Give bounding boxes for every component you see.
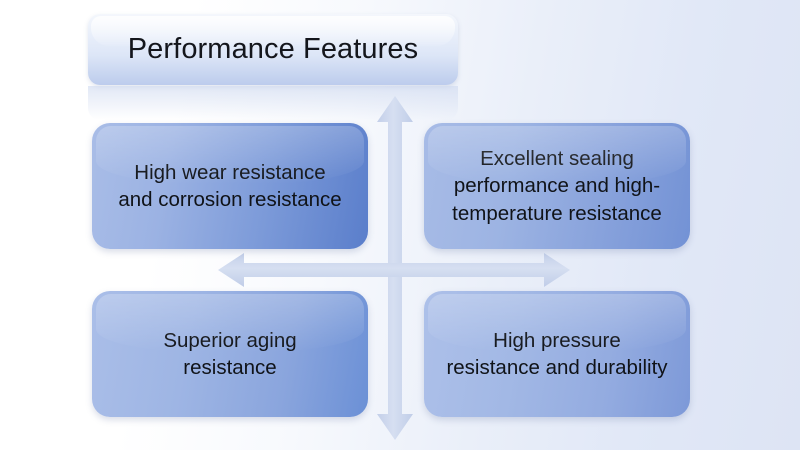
slide-canvas: Performance Features High wear resistan — [0, 0, 800, 450]
feature-box-bottom-left[interactable]: Superior aging resistance — [92, 291, 368, 417]
feature-line: Superior aging — [163, 329, 296, 352]
feature-line: temperature resistance — [452, 202, 662, 225]
vertical-double-arrow-icon — [367, 96, 423, 440]
horizontal-double-arrow-icon — [218, 248, 570, 292]
feature-line: resistance and durability — [446, 356, 667, 379]
feature-line: and corrosion resistance — [118, 188, 341, 211]
feature-box-top-right[interactable]: Excellent sealing performance and high- … — [424, 123, 690, 249]
feature-box-bottom-right-label: High pressure resistance and durability — [446, 327, 667, 382]
title-banner-reflection — [88, 86, 458, 120]
feature-line: High wear resistance — [134, 161, 325, 184]
feature-line: Excellent sealing — [480, 147, 634, 170]
feature-line: resistance — [183, 356, 276, 379]
feature-line: performance and high- — [454, 174, 660, 197]
feature-box-bottom-right[interactable]: High pressure resistance and durability — [424, 291, 690, 417]
feature-box-top-right-label: Excellent sealing performance and high- … — [452, 145, 662, 227]
page-title: Performance Features — [128, 33, 419, 66]
title-banner: Performance Features — [88, 14, 458, 85]
feature-box-top-left[interactable]: High wear resistance and corrosion resis… — [92, 123, 368, 249]
feature-line: High pressure — [493, 329, 621, 352]
feature-box-top-left-label: High wear resistance and corrosion resis… — [118, 159, 341, 214]
feature-box-bottom-left-label: Superior aging resistance — [163, 327, 296, 382]
